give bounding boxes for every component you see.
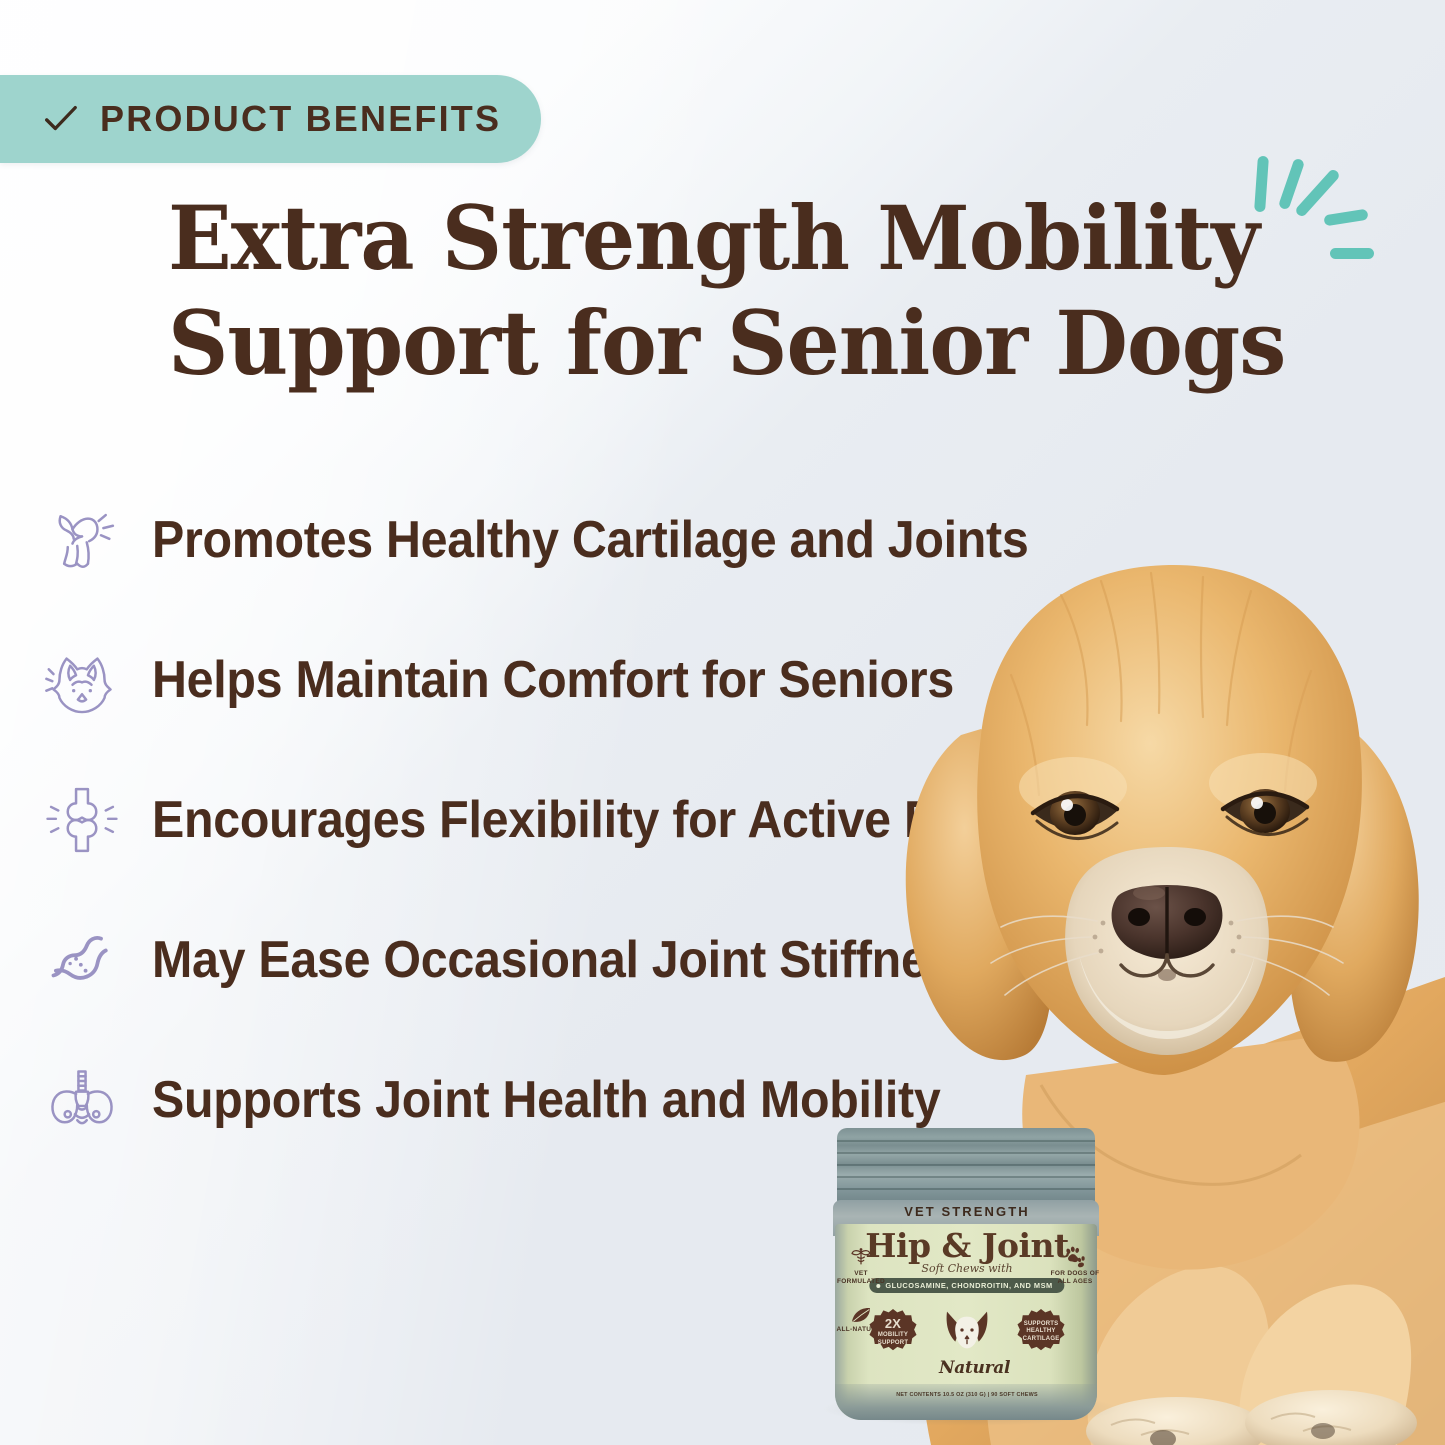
check-icon — [42, 100, 80, 138]
seal-small-text: MOBILITY SUPPORT — [878, 1332, 908, 1345]
vet-strength-text: VET STRENGTH — [833, 1204, 1101, 1219]
seal-cartilage: SUPPORTS HEALTHY CARTILAGE — [1017, 1308, 1065, 1356]
badge-label: VET FORMULATED — [837, 1270, 885, 1285]
paw-prints-icon — [1063, 1246, 1087, 1268]
joint-cartilage-icon — [44, 502, 120, 578]
badge-vet-formulated: VET FORMULATED — [835, 1246, 887, 1286]
seal-big-text: 2X — [873, 1317, 913, 1331]
headline-line-1: Extra Strength Mobility — [168, 188, 1299, 289]
product-jar: VET STRENGTH Hip & Joint Soft Chews with… — [833, 1128, 1101, 1420]
spine-icon — [44, 922, 120, 998]
product-benefits-graphic: PRODUCT BENEFITS Extra Strength Mobility… — [0, 0, 1445, 1445]
bone-flex-icon — [44, 782, 120, 858]
headline-line-2: Support for Senior Dogs — [168, 293, 1299, 394]
dog-head-logo — [942, 1308, 992, 1352]
brand-name: Natural — [939, 1358, 995, 1378]
jar-base — [835, 1384, 1097, 1420]
jar-lid — [837, 1128, 1095, 1206]
hip-pelvis-icon — [44, 1062, 120, 1138]
product-benefits-badge: PRODUCT BENEFITS — [0, 75, 541, 163]
seal-2x-mobility: 2X MOBILITY SUPPORT — [869, 1308, 917, 1356]
caduceus-icon — [850, 1246, 872, 1268]
badge-label: FOR DOGS OF ALL AGES — [1051, 1270, 1100, 1285]
seal-row: 2X MOBILITY SUPPORT Natural — [833, 1308, 1101, 1378]
ingredients-pill: GLUCOSAMINE, CHONDROITIN, AND MSM — [869, 1278, 1064, 1293]
seal-text: 2X MOBILITY SUPPORT — [869, 1317, 917, 1347]
ingredients-text: GLUCOSAMINE, CHONDROITIN, AND MSM — [885, 1281, 1052, 1290]
headline: Extra Strength Mobility Support for Seni… — [168, 188, 1358, 394]
net-contents-text: NET CONTENTS 10.5 OZ (310 G) | 90 SOFT C… — [833, 1392, 1101, 1398]
seal-text: SUPPORTS HEALTHY CARTILAGE — [1017, 1321, 1065, 1343]
brand-logo-block: Natural — [939, 1308, 995, 1378]
badge-label: PRODUCT BENEFITS — [100, 98, 501, 140]
badge-all-ages: FOR DOGS OF ALL AGES — [1049, 1246, 1101, 1286]
starburst-icon — [1240, 150, 1390, 320]
dog-face-icon — [44, 642, 120, 718]
